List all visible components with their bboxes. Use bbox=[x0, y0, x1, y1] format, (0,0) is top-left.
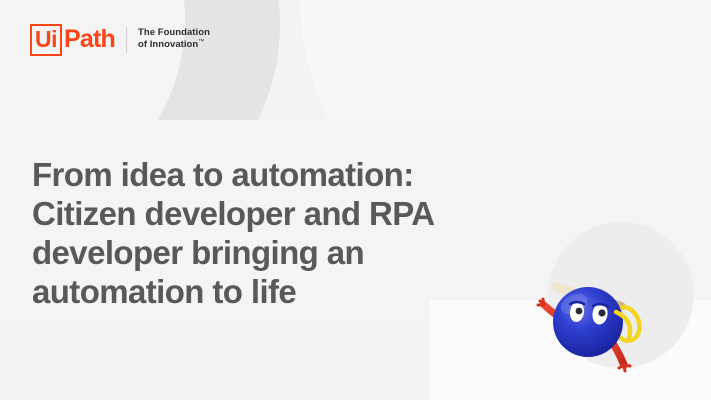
uipath-logo-mark: Ui Path bbox=[30, 24, 115, 56]
uipath-logo: Ui Path The Foundation of Innovation™ bbox=[30, 24, 210, 56]
logo-divider bbox=[126, 27, 127, 53]
page-title: From idea to automation: Citizen develop… bbox=[32, 156, 552, 312]
robot-mascot-icon bbox=[530, 250, 660, 380]
robot-body bbox=[553, 287, 623, 357]
trademark-symbol: ™ bbox=[198, 39, 204, 45]
logo-tagline: The Foundation of Innovation™ bbox=[138, 27, 210, 53]
logo-ui-box: Ui bbox=[30, 24, 62, 56]
slide-canvas: Ui Path The Foundation of Innovation™ Fr… bbox=[0, 0, 711, 400]
logo-path-text: Path bbox=[64, 27, 115, 52]
